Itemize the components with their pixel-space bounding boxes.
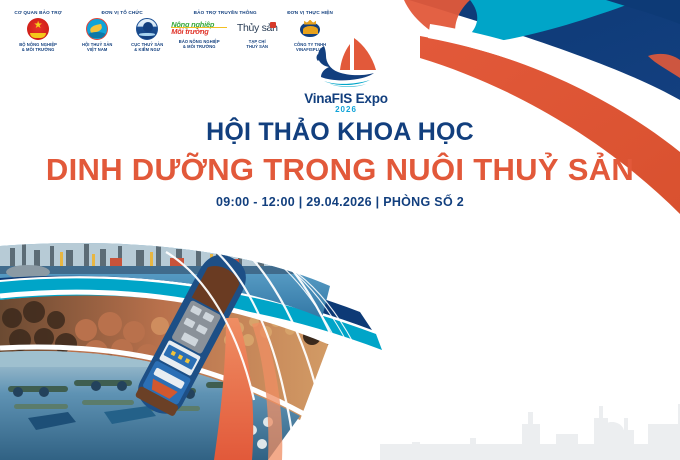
- sponsor-item: Thủy sản TẠP CHÍ THUỶ SẢN: [234, 18, 280, 49]
- thuy-san-logo-icon: Thủy sản: [235, 18, 279, 37]
- hoi-thuy-san-emblem-icon: [86, 18, 108, 40]
- event-meta-line: 09:00 - 12:00 | 29.04.2026 | PHÒNG SỐ 2: [0, 195, 680, 209]
- sponsor-group-heading: ĐƠN VỊ THỰC HIỆN: [287, 10, 333, 15]
- boat-fish-logo-icon: [314, 36, 380, 91]
- sponsor-group-organizer: ĐƠN VỊ TỔ CHỨC HỘI THUỶ SẢN VIỆT NAM CỤC…: [76, 10, 168, 52]
- sponsor-caption: BÁO NÔNG NGHIỆP & MÔI TRƯỜNG: [179, 39, 220, 49]
- sponsor-caption: TẠP CHÍ THUỶ SẢN: [246, 39, 268, 49]
- sponsor-bar: CƠ QUAN BẢO TRỢ BỘ NÔNG NGHIỆP & MÔI TRƯ…: [0, 10, 340, 72]
- sponsor-caption: BỘ NÔNG NGHIỆP & MÔI TRƯỜNG: [19, 42, 57, 52]
- sponsor-caption: CỤC THUỶ SẢN & KIỂM NGƯ: [131, 42, 163, 52]
- sponsor-caption: HỘI THUỶ SẢN VIỆT NAM: [82, 42, 113, 52]
- poster-canvas: CƠ QUAN BẢO TRỢ BỘ NÔNG NGHIỆP & MÔI TRƯ…: [0, 0, 680, 460]
- event-logo: VinaFIS Expo 2026: [300, 36, 392, 116]
- sponsor-item: HỘI THUỶ SẢN VIỆT NAM: [74, 18, 120, 52]
- event-logo-year: 2026: [300, 105, 392, 114]
- sponsor-group-heading: ĐƠN VỊ TỔ CHỨC: [102, 10, 143, 15]
- sponsor-group-patron: CƠ QUAN BẢO TRỢ BỘ NÔNG NGHIỆP & MÔI TRƯ…: [6, 10, 70, 52]
- sponsor-group-heading: CƠ QUAN BẢO TRỢ: [14, 10, 62, 15]
- cuc-thuy-san-emblem-icon: [136, 18, 158, 40]
- media-logo-line2: Môi trường: [171, 28, 227, 35]
- page-title: HỘI THẢO KHOA HỌC: [0, 118, 680, 147]
- page-subtitle: DINH DƯỠNG TRONG NUÔI THUỶ SẢN: [0, 152, 680, 188]
- nong-nghiep-moi-truong-logo-icon: Nông nghiệp Môi trường: [171, 18, 227, 37]
- sponsor-item: Nông nghiệp Môi trường BÁO NÔNG NGHIỆP &…: [170, 18, 228, 49]
- sponsor-group-media: BẢO TRỢ TRUYỀN THÔNG Nông nghiệp Môi trư…: [170, 10, 280, 49]
- sponsor-item: CỤC THUỶ SẢN & KIỂM NGƯ: [124, 18, 170, 52]
- sponsor-group-heading: BẢO TRỢ TRUYỀN THÔNG: [194, 10, 257, 15]
- sponsor-item: BỘ NÔNG NGHIỆP & MÔI TRƯỜNG: [15, 18, 61, 52]
- event-logo-name: VinaFIS Expo: [300, 91, 392, 106]
- vietnam-national-emblem-icon: [27, 18, 49, 40]
